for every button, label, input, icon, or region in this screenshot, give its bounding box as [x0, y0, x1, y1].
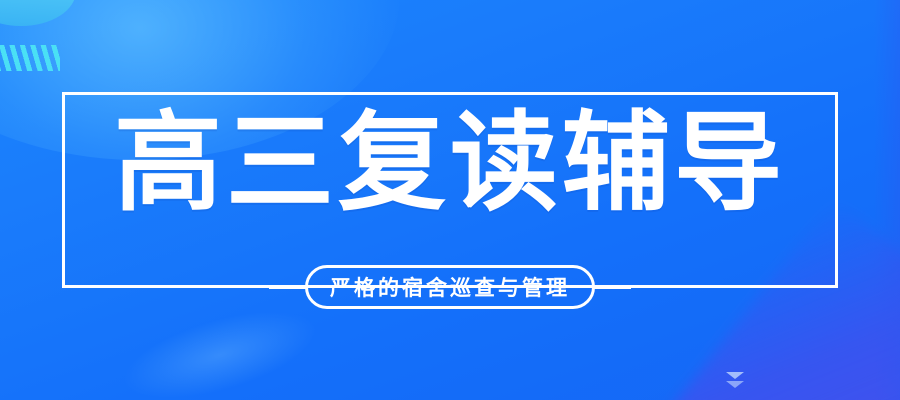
chevron-down-icon	[726, 372, 744, 379]
chevron-down-icon	[726, 381, 744, 388]
subtitle-rule-right	[593, 286, 631, 289]
promo-banner: 高三复读辅导 严格的宿舍巡查与管理	[0, 0, 900, 400]
page-title: 高三复读辅导	[0, 104, 900, 224]
double-chevron-down-icon[interactable]	[722, 367, 748, 393]
subtitle-rule-left	[269, 286, 307, 289]
subtitle-badge: 严格的宿舍巡查与管理	[305, 265, 595, 309]
top-left-arc-decor	[0, 0, 76, 26]
diagonal-stripes-decor	[0, 45, 60, 71]
subtitle-label: 严格的宿舍巡查与管理	[330, 272, 570, 302]
subtitle-group: 严格的宿舍巡查与管理	[0, 263, 900, 311]
